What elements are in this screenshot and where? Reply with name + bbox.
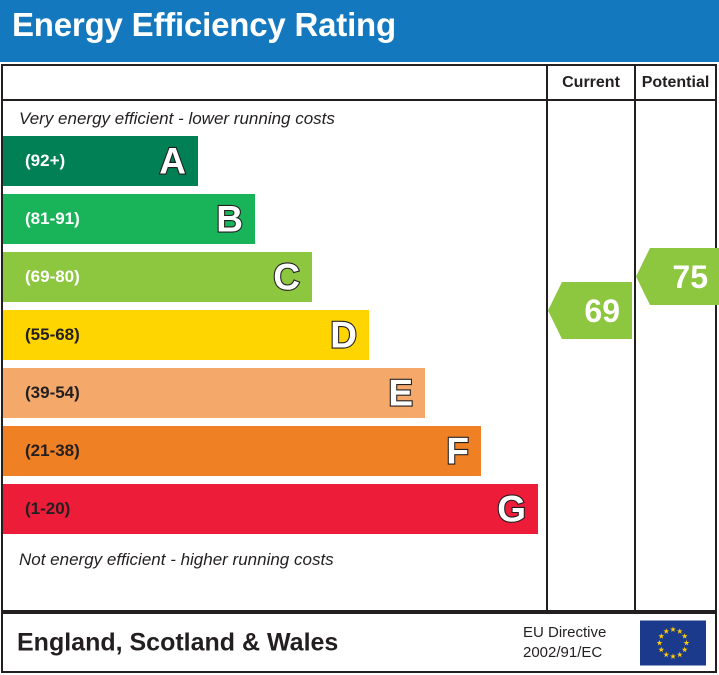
band-bar-f: (21-38)F: [3, 426, 481, 476]
band-range-g: (1-20): [25, 499, 70, 519]
band-bar-e: (39-54)E: [3, 368, 425, 418]
column-divider-current: [546, 101, 548, 610]
band-range-f: (21-38): [25, 441, 80, 461]
band-bar-b: (81-91)B: [3, 194, 255, 244]
footer-bar: England, Scotland & Wales EU Directive 2…: [1, 612, 717, 673]
current-rating-marker: 69: [548, 282, 632, 339]
column-header-potential: Potential: [634, 66, 715, 99]
band-letter-g: G: [497, 491, 526, 528]
current-rating-value: 69: [584, 295, 620, 327]
title-banner: Energy Efficiency Rating: [0, 0, 719, 62]
band-bars: (92+)A(81-91)B(69-80)C(55-68)D(39-54)E(2…: [3, 136, 546, 542]
footer-region-label: England, Scotland & Wales: [17, 628, 338, 657]
column-divider-potential: [634, 101, 636, 610]
band-bar-c: (69-80)C: [3, 252, 312, 302]
band-letter-a: A: [159, 143, 186, 180]
band-letter-f: F: [446, 433, 469, 470]
eu-star: [682, 646, 688, 652]
band-range-c: (69-80): [25, 267, 80, 287]
eu-star: [658, 646, 664, 652]
eu-star: [663, 628, 669, 634]
band-bar-g: (1-20)G: [3, 484, 538, 534]
eu-star: [670, 626, 676, 632]
band-range-e: (39-54): [25, 383, 80, 403]
caption-inefficient: Not energy efficient - higher running co…: [3, 542, 546, 578]
directive-line-2: 2002/91/EC: [523, 643, 606, 663]
potential-rating-value: 75: [672, 261, 708, 293]
caption-efficient: Very energy efficient - lower running co…: [3, 102, 546, 136]
eu-star: [682, 633, 688, 639]
table-header-row: Current Potential: [3, 66, 715, 101]
column-header-current: Current: [546, 66, 634, 99]
band-range-b: (81-91): [25, 209, 80, 229]
eu-star: [677, 651, 683, 657]
band-letter-c: C: [273, 259, 300, 296]
eu-star: [670, 653, 676, 659]
page-title: Energy Efficiency Rating: [12, 6, 396, 44]
eu-flag-icon: [640, 620, 706, 665]
eu-star: [684, 639, 690, 645]
band-letter-e: E: [388, 375, 413, 412]
rating-table: Current Potential Very energy efficient …: [1, 64, 717, 612]
eu-star: [657, 639, 663, 645]
directive-line-1: EU Directive: [523, 622, 606, 642]
eu-stars-svg: [640, 620, 706, 665]
band-bar-a: (92+)A: [3, 136, 198, 186]
eu-star: [663, 651, 669, 657]
band-letter-d: D: [330, 317, 357, 354]
potential-rating-marker: 75: [636, 248, 719, 305]
band-range-d: (55-68): [25, 325, 80, 345]
eu-star: [658, 633, 664, 639]
band-bar-d: (55-68)D: [3, 310, 369, 360]
footer-directive: EU Directive 2002/91/EC: [523, 622, 606, 663]
band-letter-b: B: [216, 201, 243, 238]
energy-efficiency-rating-chart: Energy Efficiency Rating Current Potenti…: [0, 0, 719, 675]
eu-star: [677, 628, 683, 634]
band-range-a: (92+): [25, 151, 65, 171]
